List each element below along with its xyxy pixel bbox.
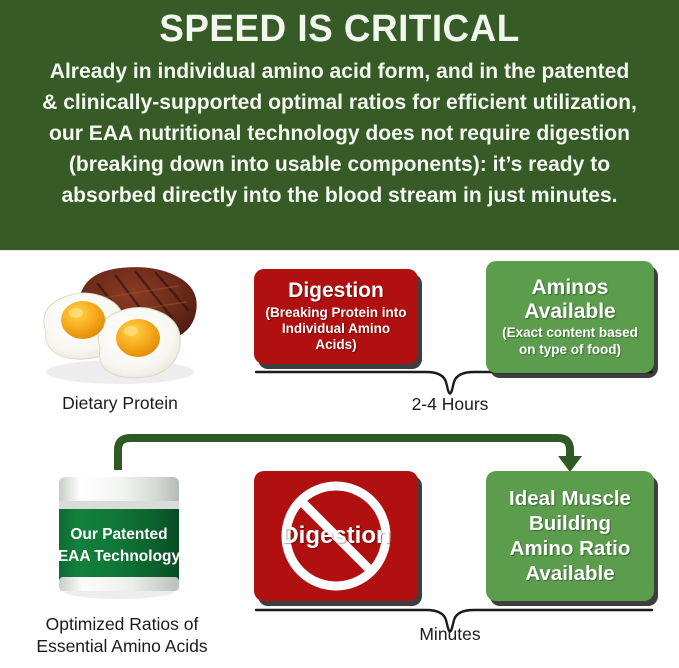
dietary-protein-label: Dietary Protein <box>10 392 230 414</box>
ideal-ratio-line-2: Building <box>529 511 611 536</box>
optimized-ratios-label-line-1: Optimized Ratios of <box>8 613 236 635</box>
tub-label-line-2: EAA Technology <box>58 548 181 565</box>
header-line-3: our EAA nutritional technology does not … <box>21 118 659 149</box>
steak-and-eggs-icon <box>28 256 206 388</box>
aminos-available-subtitle-line-2: on type of food) <box>502 342 638 358</box>
no-digestion-box-title: Digestion <box>281 523 390 550</box>
page-title: SPEED IS CRITICAL <box>24 10 655 50</box>
ideal-ratio-line-4: Available <box>525 561 614 586</box>
header-divider <box>0 250 679 251</box>
process-diagram: Digestion (Breaking Protein into Individ… <box>0 250 679 668</box>
supplement-tub-icon: Our Patented EAA Technology <box>45 463 193 611</box>
digestion-box-top-subtitle-line-1: (Breaking Protein into <box>262 305 410 321</box>
optimized-ratios-label-line-2: Essential Amino Acids <box>8 635 236 657</box>
header-line-4: (breaking down into usable components): … <box>21 149 659 180</box>
aminos-available-subtitle: (Exact content based on type of food) <box>502 325 638 357</box>
duration-label-minutes: Minutes <box>370 623 530 645</box>
header-line-5: absorbed directly into the blood stream … <box>21 180 659 211</box>
no-digestion-box[interactable]: Digestion <box>254 471 418 601</box>
header-banner: SPEED IS CRITICAL Already in individual … <box>0 0 679 250</box>
digestion-box-top-subtitle: (Breaking Protein into Individual Amino … <box>262 305 410 354</box>
aminos-available-box[interactable]: Aminos Available (Exact content based on… <box>486 261 654 373</box>
optimized-ratios-label: Optimized Ratios of Essential Amino Acid… <box>8 613 236 658</box>
ideal-ratio-line-1: Ideal Muscle <box>509 486 631 511</box>
digestion-box-top-title: Digestion <box>288 279 384 303</box>
aminos-available-title-line-2: Available <box>524 300 615 324</box>
aminos-available-subtitle-line-1: (Exact content based <box>502 325 638 341</box>
header-line-2: & clinically-supported optimal ratios fo… <box>21 87 659 118</box>
duration-label-hours: 2-4 Hours <box>370 393 530 415</box>
ideal-amino-ratio-box[interactable]: Ideal Muscle Building Amino Ratio Availa… <box>486 471 654 601</box>
ideal-ratio-line-3: Amino Ratio <box>510 536 631 561</box>
digestion-box-top[interactable]: Digestion (Breaking Protein into Individ… <box>254 269 418 364</box>
digestion-box-top-subtitle-line-2: Individual Amino Acids) <box>262 321 410 353</box>
tub-label-line-1: Our Patented <box>70 526 167 543</box>
header-line-1: Already in individual amino acid form, a… <box>21 56 659 87</box>
header-description: Already in individual amino acid form, a… <box>21 56 659 211</box>
aminos-available-title-line-1: Aminos <box>531 276 608 300</box>
